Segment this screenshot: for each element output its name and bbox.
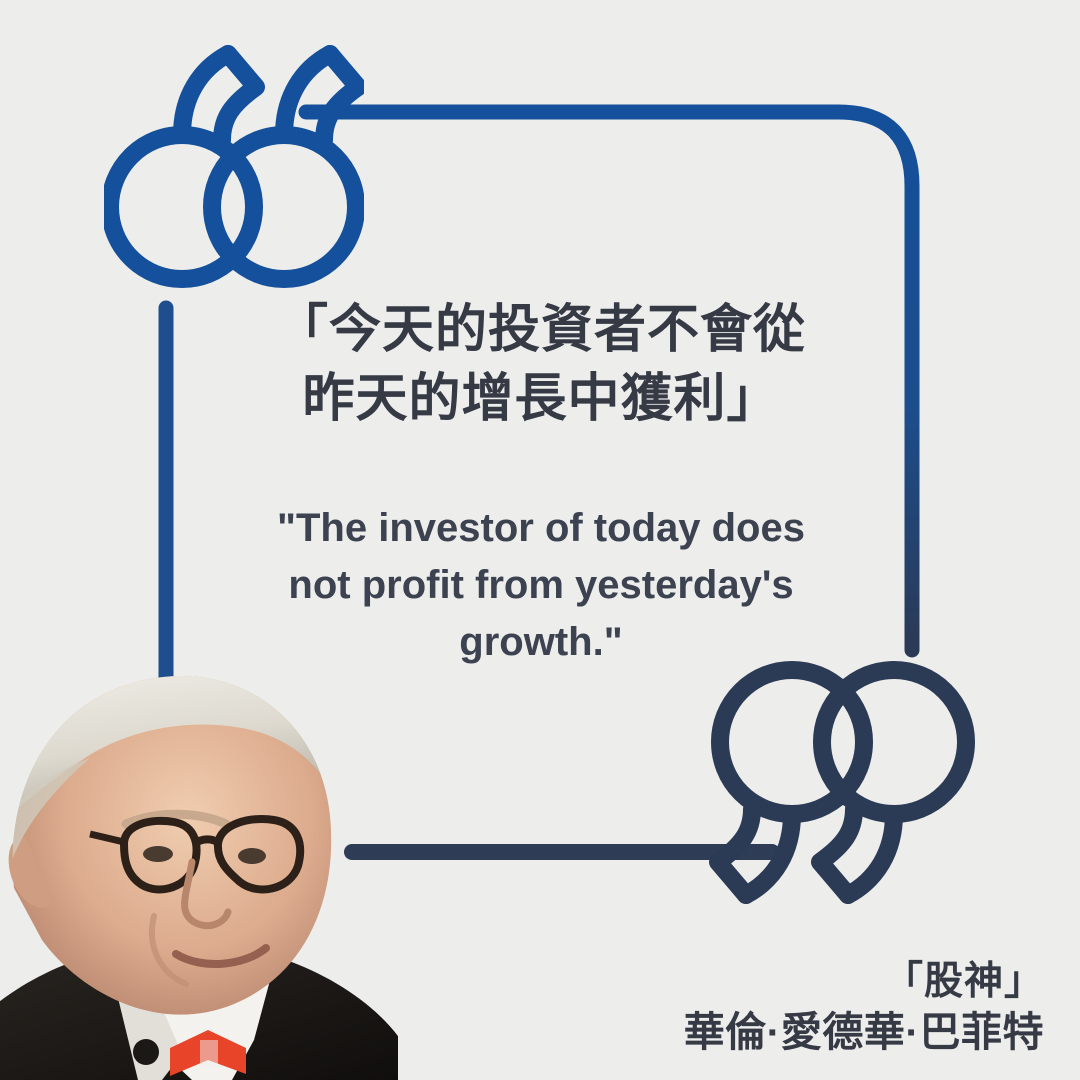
person-photo xyxy=(0,648,398,1080)
bow-tie xyxy=(170,1030,246,1076)
suit-shape xyxy=(0,944,398,1080)
portrait-photo xyxy=(0,648,398,1080)
shirt-collar xyxy=(112,944,276,1080)
mouth xyxy=(176,948,266,964)
attribution-name: 華倫·愛德華·巴菲特 xyxy=(684,1007,1044,1058)
eye-right xyxy=(238,848,266,864)
quote-text-chinese: 「今天的投資者不會從 昨天的增長中獲利」 xyxy=(252,296,830,433)
glasses xyxy=(90,819,300,889)
collar-shadow xyxy=(118,948,182,1080)
ear xyxy=(9,838,52,908)
head xyxy=(0,664,336,1014)
hair xyxy=(0,664,336,860)
quote-text-english: "The investor of today does not profit f… xyxy=(250,500,832,670)
eyebrow xyxy=(126,814,226,824)
close-quote-mark-icon xyxy=(708,650,976,908)
lapel-mic xyxy=(133,1039,159,1065)
quote-poster: 「今天的投資者不會從 昨天的增長中獲利」 "The investor of to… xyxy=(0,0,1080,1080)
eye-left xyxy=(143,846,173,862)
nose xyxy=(185,862,228,926)
neck-shape xyxy=(126,906,258,986)
attribution-title: 「股神」 xyxy=(684,958,1044,1007)
attribution: 「股神」 華倫·愛德華·巴菲特 xyxy=(684,958,1044,1058)
open-quote-mark-icon xyxy=(104,42,364,294)
